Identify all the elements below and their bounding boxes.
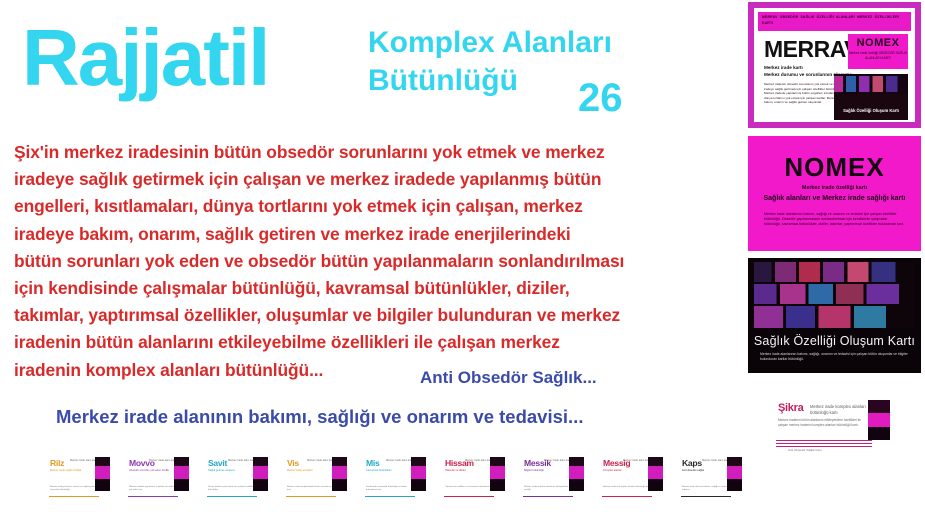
issue-number: 26 [578,76,623,120]
merrav-collage-image: Sağlık Özelliği Oluşum Kartı [834,74,908,120]
thumbnail-subtitle: Sağlık getirme oluşumu [208,469,252,473]
nomex-body-text: Merkez irade alanlarının bakımı, sağlığı… [764,212,905,228]
thumbnail-chip-image [490,457,505,491]
thumbnail-chip-image [95,457,110,491]
sikra-chip-block-1 [868,400,890,413]
thumbnail-chip-block-3 [253,479,268,491]
thumbnail-subtitle: Merkez irade enerjileri [287,469,331,473]
thumbnail-chip-block-3 [490,479,505,491]
thumbnail-strip: RilzMerkez irade alanı kartıMerkez irade… [46,452,766,514]
thumbnail-rule [444,496,494,497]
thumbnail-chip-block-2 [648,466,663,479]
anti-obsedor-note: Anti Obsedör Sağlık... [420,368,597,388]
thumbnail-chip-block-3 [174,479,189,491]
thumbnail-rule [207,496,257,497]
thumbnail-card[interactable]: KapsMerkez irade alanı kartıAnti obsedör… [678,452,748,510]
thumbnail-subtitle: Obsedör sorunları yok eden özellik [129,469,173,473]
thumbnail-rule [365,496,415,497]
merrav-poster-inner: MERRAV OBSEDÖR SAĞLIK ÖZELLİĞİ ALANLARI … [758,12,911,118]
thumbnail-chip-block-1 [411,457,426,466]
merrav-banner: MERRAV OBSEDÖR SAĞLIK ÖZELLİĞİ ALANLARI … [758,12,911,31]
thumbnail-chip-block-3 [411,479,426,491]
thumbnail-wordmark: Vis [287,458,299,468]
sikra-chip-image [868,400,890,440]
sikra-body-text: Merkez iradenin bütün alanlarını etkiley… [778,418,866,427]
thumbnail-heading: Merkez irade alanı kartı [623,459,651,463]
subtitle-line-2: Bütünlüğü [368,62,698,100]
saglik-mosaic-image [754,262,915,328]
paragraph-line: için kendisinde çalışmalar bütünlüğü, ka… [14,275,728,302]
thumbnail-chip-block-2 [95,466,110,479]
thumbnail-subtitle: Anti obsedör sağlık [682,469,726,473]
thumbnail-chip-image [569,457,584,491]
header-banner: Rajjatil Komplex Alanları Bütünlüğü 26 [0,0,740,140]
thumbnail-heading: Merkez irade alanı kartı [149,459,177,463]
thumbnail-subtitle: Kavramsal bütünlükler [366,469,410,473]
thumbnail-heading: Merkez irade alanı kartı [307,459,335,463]
paragraph-line: iradeye sağlık getirmek için çalışan ve … [14,166,728,193]
thumbnail-chip-block-2 [727,466,742,479]
thumbnail-chip-block-2 [174,466,189,479]
paragraph-line: Şix'in merkez iradesinin bütün obsedör s… [14,139,728,166]
paragraph-line: takımlar, yaptırımsal özellikler, oluşum… [14,302,728,329]
thumbnail-card[interactable]: MessigMerkez irade alanı kartıKomplex al… [599,452,669,510]
thumbnail-chip-block-1 [490,457,505,466]
merrav-chip-wordmark: NOMEX [848,34,908,49]
nomex-wordmark: NOMEX [748,136,921,183]
thumbnail-chip-image [174,457,189,491]
card-saglik-olusum[interactable]: Sağlık Özelliği Oluşum Kartı Merkez irad… [748,258,921,373]
sikra-heading: Merkez irade komplex alanları bütünlüğü … [810,404,868,415]
thumbnail-chip-block-2 [411,466,426,479]
header-subtitle: Komplex Alanları Bütünlüğü [368,24,698,100]
merrav-nomex-chip: NOMEX Merkez irade özelliği OBSEDÖR SAĞL… [848,34,908,69]
thumbnail-card[interactable]: MovvoMerkez irade alanı kartıObsedör sor… [125,452,195,510]
merrav-banner-text: MERRAV OBSEDÖR SAĞLIK ÖZELLİĞİ ALANLARI … [758,12,911,26]
card-sikra[interactable]: Şikra Merkez irade komplex alanları bütü… [748,382,921,454]
thumbnail-chip-image [253,457,268,491]
saglik-body-text: Merkez irade alanlarının bakımı, sağlığı… [760,352,909,362]
main-paragraph: Şix'in merkez iradesinin bütün obsedör s… [14,139,728,384]
thumbnail-chip-image [332,457,347,491]
nomex-subtitle-line-1: Merkez irade özelliği kartı [748,185,921,191]
thumbnail-chip-image [648,457,663,491]
nomex-subtitle-line-2: Sağlık alanları ve Merkez irade sağlığı … [748,195,921,202]
sikra-footer: Anti Obsedör Sağlık Kartı [788,448,822,452]
thumbnail-chip-block-3 [95,479,110,491]
merrav-collage-caption: Sağlık Özelliği Oluşum Kartı [834,108,908,113]
paragraph-line: engelleri, kısıtlamaları, dünya tortları… [14,193,728,220]
thumbnail-wordmark: Savit [208,458,227,468]
thumbnail-wordmark: Kaps [682,458,702,468]
thumbnail-subtitle: Takımlar ve diziler [445,469,489,473]
card-merrav[interactable]: MERRAV OBSEDÖR SAĞLIK ÖZELLİĞİ ALANLARI … [748,2,921,128]
merrav-wordmark: MERRAV [764,36,859,63]
thumbnail-chip-block-1 [332,457,347,466]
thumbnail-rule [49,496,99,497]
sikra-wordmark: Şikra [778,402,803,414]
sikra-rule [776,443,872,444]
thumbnail-heading: Merkez irade alanı kartı [702,459,730,463]
thumbnail-card[interactable]: RilzMerkez irade alanı kartıMerkez irade… [46,452,116,510]
thumbnail-rule [128,496,178,497]
merrav-subtitle-line-1: Merkez irade kartı [764,64,853,71]
thumbnail-subtitle: Merkez irade sağlık özelliği [50,469,94,473]
thumbnail-subtitle: Bilgiler bütünlüğü [524,469,568,473]
thumbnail-chip-block-2 [490,466,505,479]
thumbnail-heading: Merkez irade alanı kartı [544,459,572,463]
thumbnail-chip-block-3 [727,479,742,491]
paragraph-line: iradenin komplex alanları bütünlüğü... [14,357,728,384]
thumbnail-card[interactable]: MisMerkez irade alanı kartıKavramsal büt… [362,452,432,510]
thumbnail-chip-block-1 [95,457,110,466]
paragraph-line: iradeye bakım, onarım, sağlık getiren ve… [14,221,728,248]
thumbnail-heading: Merkez irade alanı kartı [70,459,98,463]
paragraph-line: bütün sorunları yok eden ve obsedör bütü… [14,248,728,275]
sikra-chip-block-2 [868,413,890,427]
thumbnail-heading: Merkez irade alanı kartı [386,459,414,463]
thumbnail-card[interactable]: SavitMerkez irade alanı kartıSağlık geti… [204,452,274,510]
thumbnail-chip-block-3 [648,479,663,491]
thumbnail-card[interactable]: MessikMerkez irade alanı kartıBilgiler b… [520,452,590,510]
thumbnail-chip-block-1 [648,457,663,466]
sikra-rule [776,440,872,441]
thumbnail-chip-block-2 [253,466,268,479]
thumbnail-chip-block-1 [174,457,189,466]
saglik-title: Sağlık Özelliği Oluşum Kartı [748,334,921,348]
thumbnail-chip-block-1 [253,457,268,466]
thumbnail-heading: Merkez irade alanı kartı [465,459,493,463]
thumbnail-rule [602,496,652,497]
thumbnail-chip-block-1 [727,457,742,466]
merrav-chip-subtitle: Merkez irade özelliği OBSEDÖR SAĞLIK ALA… [848,49,908,60]
thumbnail-chip-block-1 [569,457,584,466]
thumbnail-heading: Merkez irade alanı kartı [228,459,256,463]
thumbnail-wordmark: Mis [366,458,379,468]
thumbnail-card[interactable]: VisMerkez irade alanı kartıMerkez irade … [283,452,353,510]
card-nomex[interactable]: NOMEX Merkez irade özelliği kartı Sağlık… [748,136,921,251]
thumbnail-chip-block-2 [332,466,347,479]
brand-title: Rajjatil [22,10,268,106]
thumbnail-chip-image [727,457,742,491]
thumbnail-card[interactable]: HissamMerkez irade alanı kartıTakımlar v… [441,452,511,510]
thumbnail-chip-image [411,457,426,491]
paragraph-line: iradenin bütün alanlarını etkileyebilme … [14,329,728,356]
thumbnail-chip-block-3 [332,479,347,491]
thumbnail-subtitle: Komplex alanlar [603,469,647,473]
thumbnail-chip-block-3 [569,479,584,491]
thumbnail-wordmark: Rilz [50,458,64,468]
merkez-irade-note: Merkez irade alanının bakımı, sağlığı ve… [56,406,583,428]
sikra-chip-block-3 [868,427,890,440]
thumbnail-rule [523,496,573,497]
subtitle-line-1: Komplex Alanları [368,24,698,62]
thumbnail-rule [286,496,336,497]
thumbnail-chip-block-2 [569,466,584,479]
thumbnail-rule [681,496,731,497]
